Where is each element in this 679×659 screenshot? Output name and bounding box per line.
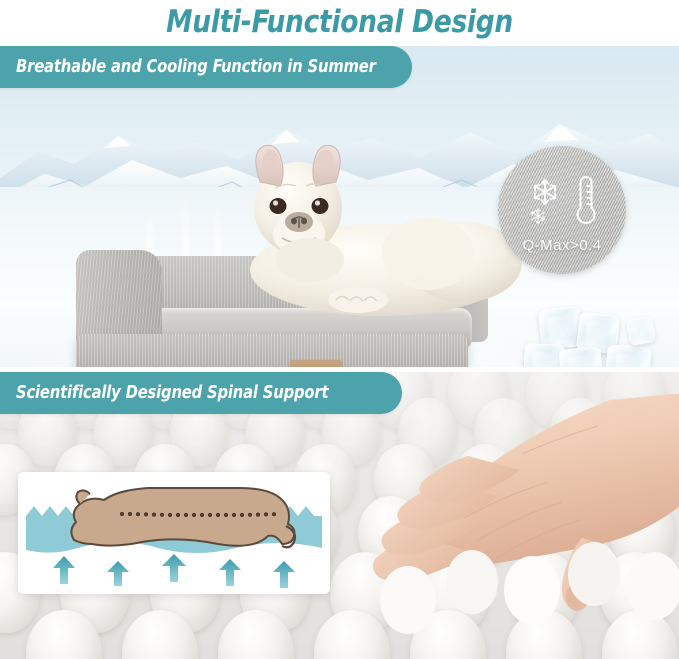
infographic-page: Multi-Functional Design: [0, 0, 679, 659]
banner-summer-label: Breathable and Cooling Function in Summe…: [16, 57, 376, 77]
brand-tag: COZY REST: [290, 360, 342, 367]
panel-summer-cooling: COZY REST: [0, 46, 679, 367]
ice-cube: [626, 316, 656, 346]
q-max-label: Q-Max>0.4: [522, 237, 601, 254]
ice-cube-cluster: [524, 298, 676, 367]
french-bulldog-photo: [232, 142, 522, 322]
thermometer-icon: [571, 171, 601, 233]
bed-base: [76, 334, 468, 367]
badge-icon-row: [523, 171, 601, 233]
two-dogs-icon: [296, 365, 336, 367]
banner-summer: Breathable and Cooling Function in Summe…: [0, 46, 412, 88]
ice-cube: [604, 344, 652, 367]
headline-bar: Multi-Functional Design: [0, 0, 679, 44]
q-max-badge: Q-Max>0.4: [498, 146, 626, 274]
banner-spinal-label: Scientifically Designed Spinal Support: [16, 383, 328, 403]
ice-cube: [559, 347, 604, 367]
page-title: Multi-Functional Design: [166, 4, 513, 40]
hand-pressing-foam-photo: [372, 386, 679, 636]
banner-spinal: Scientifically Designed Spinal Support: [0, 372, 402, 414]
spinal-support-diagram: [18, 472, 330, 594]
panel-spinal-support: Scientifically Designed Spinal Support: [0, 372, 679, 659]
spine-diagram-svg: [18, 472, 330, 594]
snowflake-group-icon: [523, 177, 567, 227]
